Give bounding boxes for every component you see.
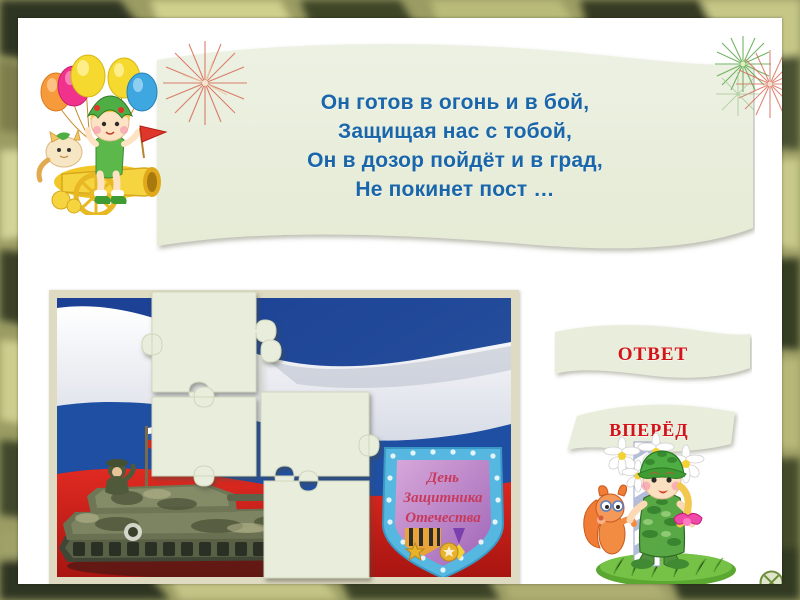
slide-card: Он готов в огонь и в бой, Защищая нас с …	[18, 18, 782, 584]
riddle-banner: Он готов в огонь и в бой, Защищая нас с …	[155, 38, 755, 273]
answer-button[interactable]: ОТВЕТ	[554, 324, 752, 386]
puzzle-piece	[142, 292, 276, 402]
slide-stage: Он готов в огонь и в бой, Защищая нас с …	[0, 0, 800, 600]
puzzle-piece	[261, 340, 379, 486]
girl-on-cannon-clipart	[26, 40, 186, 215]
answer-button-label: ОТВЕТ	[554, 324, 752, 390]
close-circle-icon[interactable]	[758, 569, 782, 584]
puzzle-piece	[264, 471, 369, 578]
puzzle-piece	[152, 387, 256, 486]
riddle-text: Он готов в огонь и в бой, Защищая нас с …	[155, 88, 755, 204]
puzzle-pieces-layer	[49, 280, 519, 584]
girl-soldier-clipart	[574, 430, 749, 584]
